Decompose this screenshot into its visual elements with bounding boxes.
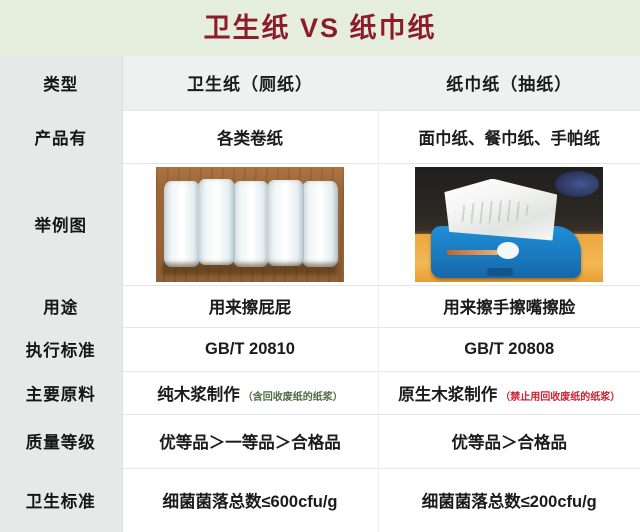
package-stripe — [447, 250, 499, 255]
column-header-facial-tissue: 纸巾纸（抽纸） — [378, 56, 640, 110]
table-row-material: 主要原料 纯木浆制作 （含回收废纸的纸浆） 原生木浆制作 （禁止用回收废纸的纸浆… — [0, 371, 640, 414]
quality-grade-facial-tissue: 优等品＞合格品 — [378, 414, 640, 468]
standard-toilet-paper: GB/T 20810 — [122, 327, 378, 371]
material-left-note: （含回收废纸的纸浆） — [243, 388, 343, 403]
tissue-pack-photo — [415, 167, 603, 282]
row-label-quality-grade: 质量等级 — [0, 414, 122, 468]
hygiene-facial-tissue: 细菌菌落总数≤200cfu/g — [378, 468, 640, 532]
row-label-hygiene-standard: 卫生标准 — [0, 468, 122, 532]
products-facial-tissue: 面巾纸、餐巾纸、手帕纸 — [378, 110, 640, 163]
table-row-products: 产品有 各类卷纸 面巾纸、餐巾纸、手帕纸 — [0, 110, 640, 163]
row-label-products: 产品有 — [0, 110, 122, 163]
toilet-paper-rolls-photo — [156, 167, 344, 282]
table-row-quality-grade: 质量等级 优等品＞一等品＞合格品 优等品＞合格品 — [0, 414, 640, 468]
material-right-wrap: 原生木浆制作 （禁止用回收废纸的纸浆） — [398, 381, 620, 405]
paper-roll — [302, 181, 338, 267]
table-row-standard: 执行标准 GB/T 20810 GB/T 20808 — [0, 327, 640, 371]
table-row-hygiene-standard: 卫生标准 细菌菌落总数≤600cfu/g 细菌菌落总数≤200cfu/g — [0, 468, 640, 532]
table-row-examples: 举例图 — [0, 163, 640, 285]
row-label-type: 类型 — [0, 56, 122, 110]
row-label-examples: 举例图 — [0, 163, 122, 285]
title-band: 卫生纸 VS 纸巾纸 — [0, 0, 640, 56]
usage-facial-tissue: 用来擦手擦嘴擦脸 — [378, 285, 640, 327]
hygiene-toilet-paper: 细菌菌落总数≤600cfu/g — [122, 468, 378, 532]
comparison-table: 类型 卫生纸（厕纸） 纸巾纸（抽纸） 产品有 各类卷纸 面巾纸、餐巾纸、手帕纸 … — [0, 56, 640, 532]
row-label-standard: 执行标准 — [0, 327, 122, 371]
material-facial-tissue: 原生木浆制作 （禁止用回收废纸的纸浆） — [378, 371, 640, 414]
paper-roll — [198, 179, 234, 265]
usage-toilet-paper: 用来擦屁屁 — [122, 285, 378, 327]
row-label-material: 主要原料 — [0, 371, 122, 414]
package-oval-logo — [497, 242, 519, 259]
package-badge — [487, 268, 513, 276]
row-label-usage: 用途 — [0, 285, 122, 327]
material-right-main: 原生木浆制作 — [398, 381, 497, 405]
material-toilet-paper: 纯木浆制作 （含回收废纸的纸浆） — [122, 371, 378, 414]
products-toilet-paper: 各类卷纸 — [122, 110, 378, 163]
material-left-wrap: 纯木浆制作 （含回收废纸的纸浆） — [157, 381, 343, 405]
page-title: 卫生纸 VS 纸巾纸 — [203, 15, 436, 42]
paper-roll-group — [164, 181, 336, 267]
example-photo-cell-left — [122, 163, 378, 285]
material-right-note: （禁止用回收废纸的纸浆） — [500, 388, 620, 403]
material-left-main: 纯木浆制作 — [157, 381, 240, 405]
roll-shadow — [162, 263, 338, 275]
example-photo-cell-right — [378, 163, 640, 285]
background-blur — [555, 171, 599, 197]
column-header-toilet-paper: 卫生纸（厕纸） — [122, 56, 378, 110]
paper-roll — [164, 181, 200, 267]
comparison-infographic: 卫生纸 VS 纸巾纸 类型 卫生纸（厕纸） 纸巾纸（抽纸） 产品有 各类卷纸 面… — [0, 0, 640, 532]
table-row-type: 类型 卫生纸（厕纸） 纸巾纸（抽纸） — [0, 56, 640, 110]
standard-facial-tissue: GB/T 20808 — [378, 327, 640, 371]
paper-roll — [267, 180, 303, 266]
table-row-usage: 用途 用来擦屁屁 用来擦手擦嘴擦脸 — [0, 285, 640, 327]
quality-grade-toilet-paper: 优等品＞一等品＞合格品 — [122, 414, 378, 468]
paper-roll — [233, 181, 269, 267]
